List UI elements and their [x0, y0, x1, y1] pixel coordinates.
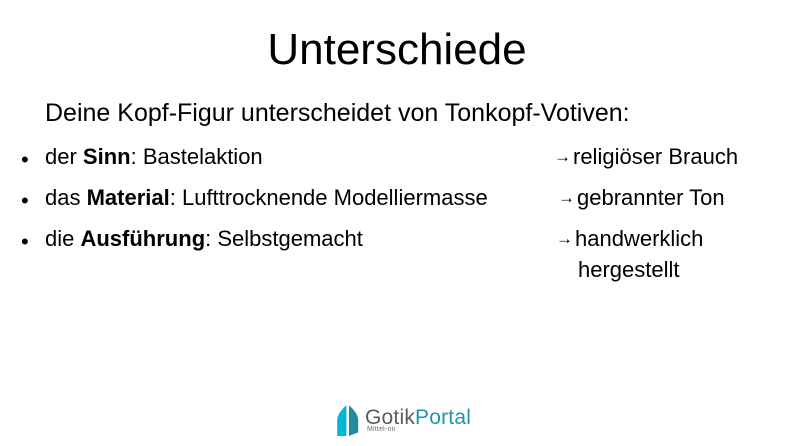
- page-title: Unterschiede: [0, 24, 794, 76]
- bullet-list: • der Sinn: Bastelaktion →religiöser Bra…: [0, 142, 794, 286]
- list-item-term: Ausführung: [80, 226, 205, 251]
- result-cell: →religiöser Brauch: [554, 142, 738, 172]
- bullet-icon: •: [21, 230, 29, 254]
- logo-word-portal: Portal: [415, 406, 471, 429]
- list-item-term: Material: [87, 185, 170, 210]
- list-item-suffix: : Lufttrocknende Modelliermasse: [170, 185, 488, 210]
- list-item-text: das Material: Lufttrocknende Modellierma…: [45, 183, 488, 213]
- result-text: gebrannter Ton: [577, 185, 725, 210]
- list-item-prefix: die: [45, 226, 80, 251]
- result-cell: →handwerklich hergestellt: [556, 224, 703, 285]
- lead-line: Deine Kopf-Figur unterscheidet von Tonko…: [45, 98, 630, 128]
- slide: Unterschiede Deine Kopf-Figur unterschei…: [0, 0, 794, 446]
- gothic-arch-icon: [336, 404, 360, 437]
- result-text: handwerklich: [575, 226, 703, 251]
- result-text: religiöser Brauch: [573, 144, 738, 169]
- list-item-prefix: der: [45, 144, 83, 169]
- list-item: • die Ausführung: Selbstgemacht →handwer…: [0, 224, 794, 286]
- list-item-text: der Sinn: Bastelaktion: [45, 142, 263, 172]
- result-cell: →gebrannter Ton: [558, 183, 725, 213]
- bullet-icon: •: [21, 148, 29, 172]
- list-item: • der Sinn: Bastelaktion →religiöser Bra…: [0, 142, 794, 183]
- list-item-prefix: das: [45, 185, 87, 210]
- list-item-term: Sinn: [83, 144, 131, 169]
- list-item-text: die Ausführung: Selbstgemacht: [45, 224, 363, 254]
- arrow-right-icon: →: [558, 188, 577, 207]
- logo-tagline: Mittel-nn: [367, 425, 396, 434]
- logo: GotikPortal Mittel-nn: [336, 403, 466, 443]
- result-text-line2: hergestellt: [556, 254, 703, 285]
- list-item-suffix: : Bastelaktion: [131, 144, 263, 169]
- bullet-icon: •: [21, 189, 29, 213]
- list-item-suffix: : Selbstgemacht: [205, 226, 363, 251]
- arrow-right-icon: →: [556, 229, 575, 248]
- list-item: • das Material: Lufttrocknende Modellier…: [0, 183, 794, 224]
- arrow-right-icon: →: [554, 147, 573, 166]
